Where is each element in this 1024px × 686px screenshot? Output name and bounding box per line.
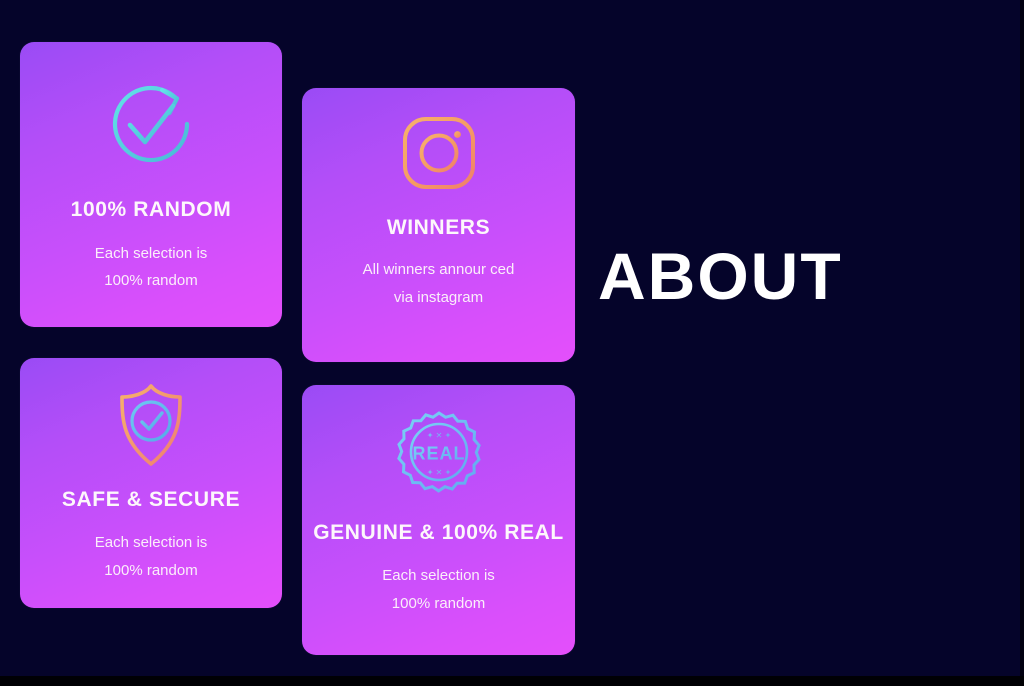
card-body-line-2: 100% random: [382, 590, 495, 618]
background-right-edge: [1020, 0, 1024, 686]
card-body-line-1: Each selection is: [95, 240, 208, 267]
instagram-icon: [400, 114, 478, 192]
card-body: Each selection is 100% random: [382, 562, 495, 618]
feature-card-random[interactable]: 100% RANDOM Each selection is 100% rando…: [20, 42, 282, 327]
card-title: SAFE & SECURE: [62, 488, 240, 512]
circular-arrow-check-icon: [99, 72, 203, 176]
card-title: 100% RANDOM: [71, 198, 232, 222]
feature-card-safe-secure[interactable]: SAFE & SECURE Each selection is 100% ran…: [20, 358, 282, 608]
card-body-line-2: via instagram: [363, 284, 515, 312]
about-section: 100% RANDOM Each selection is 100% rando…: [0, 0, 1024, 686]
card-body: All winners annour ced via instagram: [363, 256, 515, 312]
card-body: Each selection is 100% random: [95, 240, 208, 294]
feature-card-winners[interactable]: WINNERS All winners annour ced via insta…: [302, 88, 575, 362]
svg-text:✦ ✕ ✦: ✦ ✕ ✦: [426, 468, 451, 477]
card-body: Each selection is 100% random: [95, 529, 208, 585]
card-body-line-1: Each selection is: [382, 562, 495, 590]
shield-check-icon: [114, 382, 188, 468]
card-body-line-1: Each selection is: [95, 529, 208, 557]
page-title: ABOUT: [598, 240, 843, 312]
real-badge-icon: ✦ ✕ ✦ ✦ ✕ ✦ REAL: [393, 409, 485, 501]
card-title: GENUINE & 100% REAL: [313, 521, 564, 545]
svg-text:✦ ✕ ✦: ✦ ✕ ✦: [426, 431, 451, 440]
card-body-line-1: All winners annour ced: [363, 256, 515, 284]
card-body-line-2: 100% random: [95, 267, 208, 294]
background-bottom-edge: [0, 676, 1024, 686]
card-body-line-2: 100% random: [95, 557, 208, 585]
card-title: WINNERS: [387, 216, 490, 240]
feature-card-genuine-real[interactable]: ✦ ✕ ✦ ✦ ✕ ✦ REAL GENUINE & 100% REAL Eac…: [302, 385, 575, 655]
real-badge-text: REAL: [412, 444, 465, 464]
